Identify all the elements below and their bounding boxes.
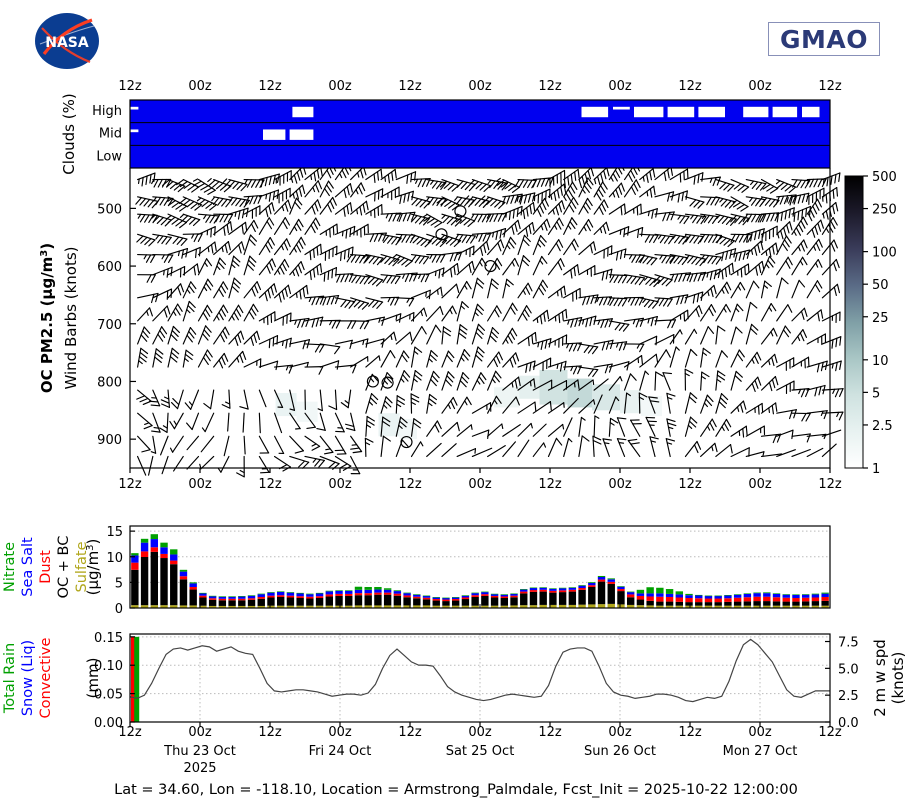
aerosol-bar-segment xyxy=(471,595,478,597)
aerosol-bar-segment xyxy=(131,570,138,605)
aerosol-bar-segment xyxy=(151,552,158,605)
time-tick-main: 12z xyxy=(678,477,702,492)
aerosol-bar-segment xyxy=(578,590,585,605)
aerosol-bar-segment xyxy=(510,597,517,605)
aerosol-bar-segment xyxy=(374,593,381,595)
aerosol-bar-segment xyxy=(656,588,663,594)
aerosol-bar-segment xyxy=(821,594,828,597)
pm25-patch xyxy=(400,419,418,439)
time-tick-top: 12z xyxy=(398,79,422,94)
wind-barb-full xyxy=(741,268,742,276)
time-tick-top: 12z xyxy=(538,79,562,94)
aerosol-bar-segment xyxy=(802,594,809,595)
wind-barb-full xyxy=(831,243,834,251)
wind-barb-full xyxy=(663,373,671,374)
aerosol-bar-segment xyxy=(695,595,702,598)
wind-barb-half xyxy=(766,251,767,256)
aerosol-bar-segment xyxy=(384,588,391,590)
aerosol-bar-segment xyxy=(355,590,362,593)
aerosol-bar-segment xyxy=(821,597,828,601)
wind-barb-half xyxy=(385,177,386,182)
wind-barb-full xyxy=(559,314,560,322)
aerosol-bar-segment xyxy=(248,595,255,596)
aerosol-bar-segment xyxy=(462,599,469,606)
aerosol-bar-segment xyxy=(569,592,576,605)
aerosol-bar-segment xyxy=(296,598,303,606)
wind-barb-half xyxy=(208,247,209,252)
wind-barb-half xyxy=(530,381,531,386)
aerosol-bar-segment xyxy=(549,588,556,589)
aerosol-bar-segment xyxy=(384,593,391,595)
aerosol-bar-segment xyxy=(199,593,206,595)
aerosol-bar-segment xyxy=(287,592,294,593)
aerosol-bar-segment xyxy=(326,591,333,594)
time-tick-main: 12z xyxy=(818,477,842,492)
wind-barb-full xyxy=(332,269,333,277)
precip-legend-label: Convective xyxy=(38,637,54,718)
aerosol-bar-segment xyxy=(501,596,508,598)
clouds-row-label: Mid xyxy=(99,127,122,142)
aerosol-bar-segment xyxy=(753,597,760,601)
aerosol-bar-segment xyxy=(267,596,274,598)
wind-barb-full xyxy=(836,362,838,370)
wind-barb-full xyxy=(535,333,536,341)
aerosol-bar-segment xyxy=(676,597,683,601)
aerosol-bar-segment xyxy=(170,561,177,565)
aerosol-bar-segment xyxy=(335,594,342,596)
aerosol-bar-segment xyxy=(287,596,294,598)
wind-barb-full xyxy=(759,406,760,414)
cloud-segment xyxy=(292,107,313,117)
aerosol-bar-segment xyxy=(763,593,770,597)
aerosol-legend-group: OC + BC xyxy=(56,536,72,599)
colorbar-tick-label: 10 xyxy=(872,354,889,369)
time-tick-top: 12z xyxy=(258,79,282,94)
wind-barb-full xyxy=(344,250,345,258)
aerosol-panel: 051015(µg/m3)NitrateSea SaltDustOC + BCS… xyxy=(0,518,912,630)
aerosol-bar-segment xyxy=(588,585,595,587)
aerosol-bar-segment xyxy=(384,595,391,606)
aerosol-bar-segment xyxy=(296,596,303,598)
aerosol-bar-segment xyxy=(462,595,469,596)
aerosol-bar-segment xyxy=(617,586,624,587)
aerosol-bar-segment xyxy=(501,594,508,595)
aerosol-bar-segment xyxy=(277,591,284,592)
wind-barb-full xyxy=(562,312,563,320)
aerosol-bar-segment xyxy=(384,590,391,593)
wind-barb-half xyxy=(357,209,358,213)
aerosol-bar-segment xyxy=(734,602,741,606)
time-tick-top: 00z xyxy=(188,79,212,94)
aerosol-bar-segment xyxy=(228,596,235,597)
aerosol-bar-segment xyxy=(452,599,459,601)
wind-barb-full xyxy=(840,389,843,397)
wind-barb-full xyxy=(794,213,795,221)
aerosol-bar-segment xyxy=(481,596,488,606)
colorbar-tick-label: 100 xyxy=(872,246,897,261)
day-label: Fri 24 Oct xyxy=(309,744,372,759)
time-tick-main: 00z xyxy=(468,477,492,492)
aerosol-bar-segment xyxy=(481,592,488,593)
aerosol-bar-segment xyxy=(608,584,615,604)
aerosol-bar-segment xyxy=(627,592,634,593)
aerosol-bar-segment xyxy=(783,594,790,595)
aerosol-bar-segment xyxy=(209,598,216,600)
aerosol-bar-segment xyxy=(219,599,226,601)
aerosol-bar-segment xyxy=(510,594,517,596)
aerosol-bar-segment xyxy=(666,597,673,602)
aerosol-bar-segment xyxy=(131,563,138,570)
aerosol-y-tick-label: 5 xyxy=(115,576,123,591)
aerosol-bar-segment xyxy=(559,590,566,592)
wind-barb-full xyxy=(840,337,841,345)
aerosol-bar-segment xyxy=(734,594,741,595)
aerosol-bar-segment xyxy=(335,591,342,594)
wind-barb-full xyxy=(837,188,838,196)
time-tick-main: 00z xyxy=(328,477,352,492)
aerosol-bar-segment xyxy=(345,594,352,596)
wind-barb-full xyxy=(836,260,839,268)
aerosol-bar-segment xyxy=(792,598,799,602)
time-tick-main: 12z xyxy=(538,477,562,492)
wind-barb-half xyxy=(396,315,397,320)
aerosol-bar-segment xyxy=(783,595,790,598)
aerosol-bar-segment xyxy=(491,594,498,595)
aerosol-bar-segment xyxy=(141,557,148,605)
aerosol-bar-segment xyxy=(520,593,527,605)
precip-right-title-1-group: 2 m w spd xyxy=(871,639,889,717)
time-tick-main: 12z xyxy=(118,477,142,492)
aerosol-bar-segment xyxy=(510,593,517,594)
aerosol-bar-segment xyxy=(462,596,469,598)
aerosol-bar-segment xyxy=(277,592,284,595)
aerosol-bar-segment xyxy=(715,596,722,599)
aerosol-bar-segment xyxy=(141,551,148,557)
wind-barb-half xyxy=(352,445,357,446)
aerosol-bar-segment xyxy=(676,594,683,597)
wind-barb-full xyxy=(840,361,842,369)
aerosol-bar-segment xyxy=(676,591,683,594)
time-tick-main: 00z xyxy=(188,477,212,492)
aerosol-bar-segment xyxy=(462,597,469,599)
aerosol-bar-segment xyxy=(646,601,653,606)
wind-barb-full xyxy=(273,337,274,345)
aerosol-bar-segment xyxy=(228,600,235,606)
aerosol-bar-segment xyxy=(763,601,770,606)
aerosol-bar-segment xyxy=(540,592,547,605)
wind-barb-full xyxy=(237,473,245,477)
aerosol-bar-segment xyxy=(180,579,187,605)
aerosol-bar-segment xyxy=(316,598,323,606)
aerosol-bar-segment xyxy=(160,547,167,554)
pm25-patch xyxy=(297,402,318,422)
time-tick-top: 00z xyxy=(468,79,492,94)
aerosol-legend-group: Nitrate xyxy=(2,542,18,592)
aerosol-bar-segment xyxy=(209,600,216,606)
aerosol-bar-segment xyxy=(792,595,799,598)
precip-right-title-2-group: (knots) xyxy=(889,652,907,705)
wind-barb-full xyxy=(269,339,270,347)
wind-barb-half xyxy=(296,293,297,298)
nasa-wordmark: NASA xyxy=(45,35,89,51)
wind-barb-full xyxy=(535,402,536,410)
aerosol-bar-segment xyxy=(598,580,605,582)
aerosol-bar-segment xyxy=(238,596,245,598)
wind-barb-full xyxy=(839,173,840,181)
aerosol-bar-segment xyxy=(481,592,488,594)
wind-barb-half xyxy=(282,341,283,345)
time-tick-main: 12z xyxy=(398,477,422,492)
aerosol-bar-segment xyxy=(656,602,663,606)
wind-barb-full xyxy=(532,335,533,343)
cloud-segment xyxy=(130,107,138,110)
aerosol-bar-segment xyxy=(238,596,245,597)
aerosol-bar-segment xyxy=(199,593,206,594)
bottom-axis: 12z00z12z00z12z00z12z00z12z00z12zThu 23 … xyxy=(0,722,912,804)
gmao-logo: GMAO xyxy=(768,22,880,56)
aerosol-bar-segment xyxy=(724,598,731,602)
aerosol-bar-segment xyxy=(452,601,459,606)
aerosol-bar-segment xyxy=(423,599,430,605)
aerosol-bar-segment xyxy=(617,589,624,591)
wind-barb-full xyxy=(328,271,329,279)
aerosol-bar-segment xyxy=(413,597,420,599)
aerosol-bar-segment xyxy=(190,590,197,606)
aerosol-bar-segment xyxy=(355,595,362,605)
aerosol-bar-segment xyxy=(501,595,508,597)
wind-barb-full xyxy=(806,208,807,216)
aerosol-bar-segment xyxy=(277,597,284,606)
aerosol-bar-segment xyxy=(491,597,498,605)
aerosol-bar-segment xyxy=(190,587,197,590)
aerosol-bar-segment xyxy=(442,598,449,600)
aerosol-bar-segment xyxy=(540,590,547,592)
aerosol-bar-segment xyxy=(608,582,615,584)
aerosol-bar-segment xyxy=(471,593,478,594)
time-tick-bottom: 00z xyxy=(188,725,212,740)
aerosol-bar-segment xyxy=(753,593,760,594)
wind-barb-half xyxy=(604,443,609,444)
wind-barb-half xyxy=(471,425,472,429)
aerosol-bar-segment xyxy=(442,601,449,606)
aerosol-bar-segment xyxy=(170,564,177,605)
main-axis-title-1: OC PM2.5 (µg/m3) xyxy=(38,243,56,393)
precip-legend-label: Total Rain xyxy=(2,643,18,714)
aerosol-bar-segment xyxy=(617,591,624,604)
wind-barb-full xyxy=(835,389,838,397)
aerosol-bar-segment xyxy=(228,599,235,601)
aerosol-bar-segment xyxy=(685,594,692,595)
time-tick-main: 00z xyxy=(748,477,772,492)
aerosol-bar-segment xyxy=(724,602,731,606)
aerosol-bar-segment xyxy=(433,597,440,598)
cloud-segment xyxy=(634,107,663,117)
aerosol-bar-segment xyxy=(306,597,313,599)
aerosol-bar-segment xyxy=(802,598,809,602)
aerosol-bar-segment xyxy=(190,582,197,583)
wind-barb-half xyxy=(438,290,439,295)
aerosol-bar-segment xyxy=(666,589,673,594)
aerosol-bar-segment xyxy=(258,594,265,597)
aerosol-bar-segment xyxy=(578,586,585,588)
aerosol-bar-segment xyxy=(695,602,702,606)
aerosol-bar-segment xyxy=(812,597,819,601)
wind-barb-full xyxy=(834,263,837,271)
aerosol-bar-segment xyxy=(306,594,313,595)
aerosol-bar-segment xyxy=(219,596,226,597)
aerosol-bar-segment xyxy=(501,598,508,606)
aerosol-bar-segment xyxy=(646,587,653,593)
wind-barb-half xyxy=(326,449,331,450)
aerosol-bar-segment xyxy=(365,590,372,593)
caption-text: Lat = 34.60, Lon = -118.10, Location = A… xyxy=(114,782,798,798)
aerosol-bar-segment xyxy=(734,595,741,598)
day-label: Thu 23 Oct xyxy=(163,744,236,759)
aerosol-bar-segment xyxy=(549,591,556,593)
aerosol-bar-segment xyxy=(715,596,722,597)
aerosol-bar-segment xyxy=(316,596,323,598)
pm25-patch xyxy=(641,396,662,416)
wind-barb-full xyxy=(196,249,197,257)
wind-barb-half xyxy=(311,175,312,180)
aerosol-bar-segment xyxy=(413,595,420,597)
cloud-segment xyxy=(698,107,725,117)
aerosol-bar-segment xyxy=(306,599,313,606)
aerosol-legend-group: Sea Salt xyxy=(20,537,36,597)
time-tick-bottom: 12z xyxy=(118,725,142,740)
aerosol-bar-segment xyxy=(578,588,585,590)
aerosol-bar-segment xyxy=(773,594,780,597)
aerosol-legend-label: Sulfate xyxy=(74,541,90,592)
cloud-segment xyxy=(613,107,630,110)
time-tick-top: 00z xyxy=(608,79,632,94)
aerosol-bar-segment xyxy=(316,593,323,594)
wind-barb-full xyxy=(836,203,838,211)
aerosol-bar-segment xyxy=(656,593,663,596)
aerosol-bar-segment xyxy=(452,597,459,598)
aerosol-legend-label: Sea Salt xyxy=(20,537,36,597)
aerosol-bar-segment xyxy=(695,595,702,596)
wind-barb-full xyxy=(211,228,212,236)
wind-barb-half xyxy=(342,231,343,236)
time-tick-top: 00z xyxy=(748,79,772,94)
precip-right-title-2: (knots) xyxy=(889,652,907,705)
aerosol-bar-segment xyxy=(646,596,653,600)
aerosol-bar-segment xyxy=(530,588,537,590)
wind-barb-shaft xyxy=(594,416,595,436)
time-tick-main: 00z xyxy=(608,477,632,492)
wind-barb-full xyxy=(831,221,835,228)
aerosol-bar-segment xyxy=(637,590,644,594)
wind-barb-full xyxy=(528,337,529,345)
aerosol-bar-segment xyxy=(763,597,770,601)
wind-barb-full xyxy=(566,309,567,317)
precip-y-right-tick-label: 2.5 xyxy=(838,689,859,704)
day-label: Sun 26 Oct xyxy=(584,744,656,759)
aerosol-bar-segment xyxy=(530,592,537,605)
precip-legend-group: Convective xyxy=(38,637,54,718)
aerosol-bar-segment xyxy=(452,597,459,599)
aerosol-bar-segment xyxy=(471,597,478,606)
aerosol-bar-segment xyxy=(365,587,372,590)
time-tick-main: 12z xyxy=(258,477,282,492)
aerosol-bar-segment xyxy=(792,594,799,595)
aerosol-bar-segment xyxy=(423,598,430,600)
wind-barb-half xyxy=(240,470,244,472)
time-tick-top: 12z xyxy=(818,79,842,94)
aerosol-bar-segment xyxy=(559,588,566,589)
wind-barb-half xyxy=(266,194,267,199)
aerosol-bar-segment xyxy=(423,596,430,597)
aerosol-bar-segment xyxy=(715,602,722,606)
aerosol-bar-segment xyxy=(598,582,605,605)
aerosol-bar-segment xyxy=(267,592,274,593)
main-panel: 50060070080090012z00z12z00z12z00z12z00z1… xyxy=(0,168,912,520)
aerosol-bar-segment xyxy=(413,598,420,605)
aerosol-bar-segment xyxy=(491,596,498,598)
aerosol-bar-segment xyxy=(209,596,216,598)
aerosol-bar-segment xyxy=(715,599,722,603)
aerosol-bar-segment xyxy=(296,593,303,594)
cloud-segment xyxy=(773,107,798,117)
aerosol-bar-segment xyxy=(374,587,381,590)
wind-barb-half xyxy=(593,380,594,385)
main-y-tick-label: 600 xyxy=(97,260,122,275)
wind-barb-full xyxy=(802,210,803,218)
aerosol-bar-segment xyxy=(365,593,372,595)
year-label: 2025 xyxy=(183,761,216,776)
aerosol-bar-segment xyxy=(724,595,731,596)
aerosol-bar-segment xyxy=(530,590,537,592)
aerosol-bar-segment xyxy=(608,579,615,582)
aerosol-bar-segment xyxy=(394,591,401,594)
wind-barb-full xyxy=(199,247,200,255)
aerosol-bar-segment xyxy=(569,587,576,588)
aerosol-bar-segment xyxy=(627,597,634,605)
aerosol-bar-segment xyxy=(394,590,401,591)
clouds-row-label: High xyxy=(92,104,122,119)
aerosol-bar-segment xyxy=(481,594,488,596)
wind-barb-full xyxy=(835,174,836,182)
aerosol-bar-segment xyxy=(520,590,527,592)
aerosol-bar-segment xyxy=(540,587,547,588)
aerosol-bar-segment xyxy=(258,599,265,606)
wind-barb-full xyxy=(832,340,833,348)
aerosol-bar-segment xyxy=(141,543,148,552)
aerosol-bar-segment xyxy=(248,596,255,599)
wind-barb-half xyxy=(643,177,644,181)
colorbar-tick-label: 2.5 xyxy=(872,419,893,434)
cloud-segment xyxy=(130,129,138,132)
aerosol-bar-segment xyxy=(637,600,644,606)
aerosol-y-tick-label: 15 xyxy=(106,525,123,540)
aerosol-bar-segment xyxy=(160,558,167,605)
aerosol-bar-segment xyxy=(170,549,177,554)
aerosol-bar-segment xyxy=(578,585,585,586)
cloud-segment xyxy=(582,107,609,117)
aerosol-bar-segment xyxy=(491,594,498,596)
aerosol-bar-segment xyxy=(783,602,790,606)
aerosol-bar-segment xyxy=(637,593,644,596)
aerosol-bar-segment xyxy=(326,591,333,592)
aerosol-bar-segment xyxy=(598,577,605,580)
aerosol-bar-segment xyxy=(520,592,527,594)
colorbar-tick-label: 1 xyxy=(872,462,880,477)
aerosol-bar-segment xyxy=(267,593,274,596)
aerosol-bar-segment xyxy=(238,599,245,601)
time-tick-bottom: 00z xyxy=(608,725,632,740)
aerosol-bar-segment xyxy=(763,592,770,593)
